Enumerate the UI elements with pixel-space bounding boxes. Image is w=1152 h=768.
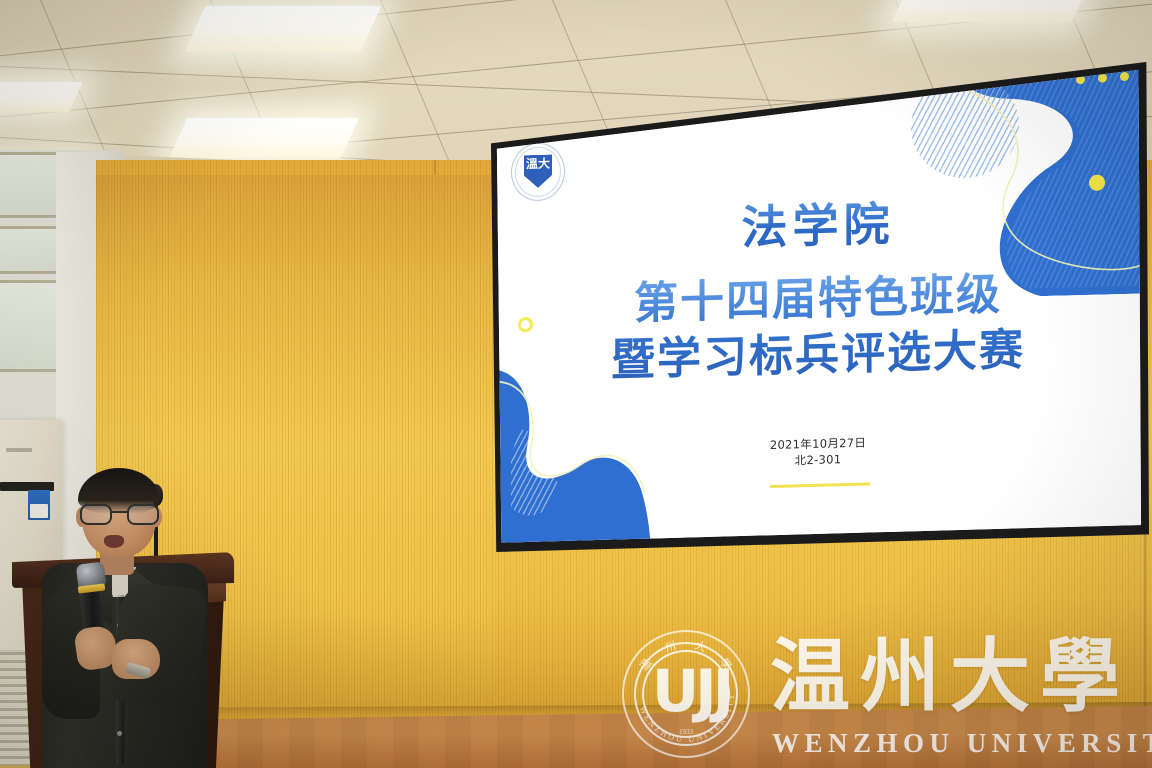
lecture-hall-photo: 溫大 法学院 第十四届特色班级 暨学习标兵评选大赛 2021年10月27日 北2…	[0, 0, 1152, 768]
seal-arc-text: 温 州 大 學 WENZHOU UNIVERSITY 1933	[622, 630, 750, 758]
eyeglasses-icon	[78, 504, 162, 526]
slide-subtitle: 第十四届特色班级 暨学习标兵评选大赛	[493, 264, 1143, 392]
wenzhou-university-seal: UJJ 温 州 大 學 WENZHOU UNIVERSITY 1933	[622, 630, 750, 758]
svg-text:温 州 大 學: 温 州 大 學	[637, 638, 737, 678]
wenzhou-university-watermark: UJJ 温 州 大 學 WENZHOU UNIVERSITY 1933 温州大學…	[604, 624, 1152, 768]
school-shield-logo: 溫大	[511, 142, 565, 201]
presentation-slide: 溫大 法学院 第十四届特色班级 暨学习标兵评选大赛 2021年10月27日 北2…	[493, 68, 1143, 546]
watermark-name-cn: 温州大學	[770, 634, 1130, 720]
recessed-light-panel	[169, 118, 359, 158]
ac-vent-mark	[6, 448, 32, 452]
presenter-mouth	[104, 535, 124, 548]
recessed-light-panel	[892, 0, 1088, 22]
slide-accent-rule	[770, 482, 870, 488]
recessed-light-panel	[0, 82, 83, 112]
recessed-light-panel	[185, 6, 381, 52]
presenter	[20, 455, 220, 768]
logo-glyphs: 溫大	[524, 158, 552, 183]
projection-screen[interactable]: 溫大 法学院 第十四届特色班级 暨学习标兵评选大赛 2021年10月27日 北2…	[493, 68, 1143, 546]
svg-text:WENZHOU UNIVERSITY: WENZHOU UNIVERSITY	[638, 691, 736, 744]
svg-text:1933: 1933	[679, 728, 694, 736]
watermark-name-en: WENZHOU UNIVERSITY	[772, 728, 1152, 758]
